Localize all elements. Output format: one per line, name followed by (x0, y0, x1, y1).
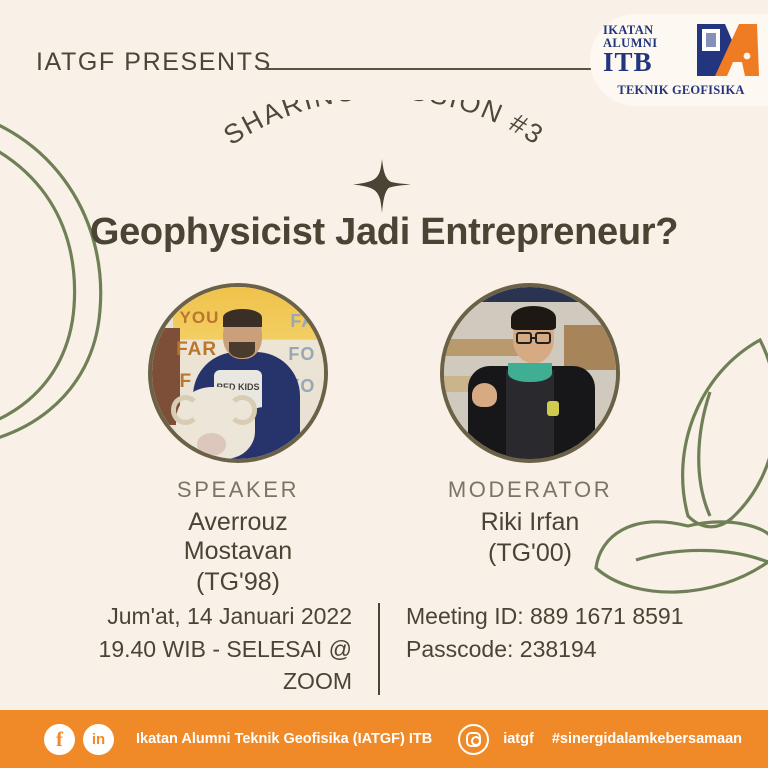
event-poster: IATGF PRESENTS IKATAN ALUMNI ITB TEKNIK … (0, 0, 768, 768)
social-footer: f in Ikatan Alumni Teknik Geofisika (IAT… (0, 710, 768, 768)
linkedin-icon[interactable]: in (83, 724, 114, 755)
meeting-id: Meeting ID: 889 1671 8591 (406, 600, 720, 633)
page-title: Geophysicist Jadi Entrepreneur? (0, 211, 768, 254)
people-section: YOU FAR F FA FO YO RED KIDS (0, 283, 768, 597)
speaker-card: YOU FAR F FA FO YO RED KIDS (133, 283, 343, 597)
itb-alumni-logo: IKATAN ALUMNI ITB TEKNIK GEOFISIKA (590, 14, 768, 106)
moderator-card: MODERATOR Riki Irfan (TG'00) (425, 283, 635, 597)
event-details: Jum'at, 14 Januari 2022 19.40 WIB - SELE… (0, 600, 768, 698)
speaker-year: (TG'98) (133, 568, 343, 597)
sparkle-icon (351, 157, 413, 215)
zoom-credentials: Meeting ID: 889 1671 8591 Passcode: 2381… (380, 600, 720, 698)
speaker-photo-word-3: F (180, 371, 193, 393)
speaker-role-label: SPEAKER (133, 477, 343, 503)
moderator-role-label: MODERATOR (425, 477, 635, 503)
speaker-photo-word-5: FO (288, 344, 315, 365)
moderator-name: Riki Irfan (425, 508, 635, 537)
itb-ganesha-a-icon (695, 22, 761, 78)
event-schedule: Jum'at, 14 Januari 2022 19.40 WIB - SELE… (48, 600, 378, 698)
hashtag-label: #sinergidalamkebersamaan (552, 731, 742, 747)
instagram-handle: iatgf (503, 731, 534, 747)
logo-line-itb: ITB (603, 49, 699, 77)
speaker-name: Averrouz Mostavan (133, 508, 343, 566)
speaker-photo-word-2: FAR (176, 339, 217, 361)
instagram-icon[interactable] (458, 724, 489, 755)
speaker-photo-word-1: YOU (180, 308, 220, 328)
header-divider-line (258, 68, 603, 70)
event-date: Jum'at, 14 Januari 2022 (48, 600, 352, 633)
organization-handle: Ikatan Alumni Teknik Geofisika (IATGF) I… (136, 731, 432, 747)
arc-heading-text: SHARING SESSION #3 (218, 100, 549, 151)
presents-label: IATGF PRESENTS (36, 48, 272, 77)
moderator-photo (440, 283, 620, 463)
logo-line-ikatan: IKATAN (603, 24, 699, 37)
event-time: 19.40 WIB - SELESAI @ ZOOM (48, 633, 352, 698)
moderator-year: (TG'00) (425, 539, 635, 568)
logo-sub-label: TEKNIK GEOFISIKA (601, 83, 761, 98)
speaker-photo-word-4: FA (290, 311, 315, 332)
passcode: Passcode: 238194 (406, 633, 720, 666)
facebook-icon[interactable]: f (44, 724, 75, 755)
speaker-photo: YOU FAR F FA FO YO RED KIDS (148, 283, 328, 463)
